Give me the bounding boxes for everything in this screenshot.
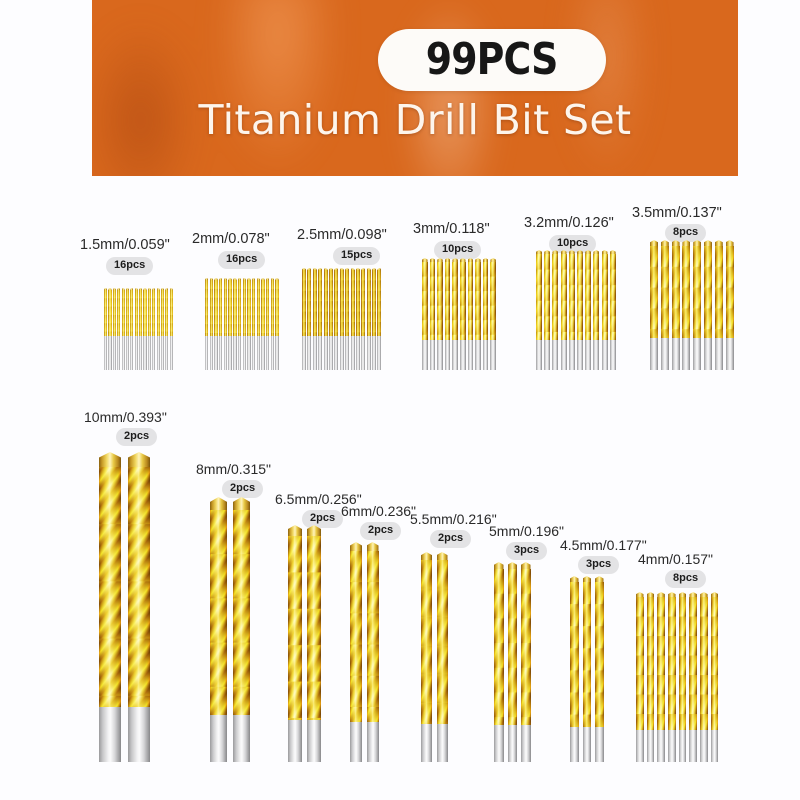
- drill-bit: [561, 250, 567, 370]
- group-size-label: 10mm/0.393": [84, 410, 167, 424]
- drill-bit-reflection: [536, 370, 616, 384]
- drill-bit: [475, 258, 481, 370]
- drill-bit: [356, 268, 360, 370]
- drill-bit-shank: [170, 336, 173, 370]
- drill-bit-shank: [205, 336, 208, 370]
- drill-bit-flute: [367, 551, 379, 722]
- drill-bit-flute: [452, 262, 458, 340]
- drill-bit-reflection: [104, 370, 173, 380]
- drill-bit-shank: [726, 338, 734, 370]
- drill-bit-flute: [536, 254, 542, 340]
- drill-bit-shank: [104, 336, 107, 370]
- group-quantity-badge: 3pcs: [578, 556, 619, 574]
- drill-bit: [593, 250, 599, 370]
- drill-bit-flute: [302, 270, 306, 336]
- drill-bit-flute: [552, 254, 558, 340]
- drill-bit: [271, 278, 274, 370]
- drill-bit-flute: [219, 280, 222, 336]
- drill-bit: [682, 240, 690, 370]
- drill-bit-shank: [679, 730, 687, 762]
- drill-bit: [228, 278, 231, 370]
- group-size-label: 3.5mm/0.137": [632, 206, 722, 221]
- drill-bit: [650, 240, 658, 370]
- drill-bit: [437, 552, 448, 762]
- group-quantity-badge: 15pcs: [333, 247, 380, 265]
- drill-bit: [302, 268, 306, 370]
- drill-bit: [128, 452, 150, 762]
- drill-bit-flute: [214, 280, 217, 336]
- drill-bit-shank: [704, 338, 712, 370]
- drill-bit-reflection: [99, 762, 150, 788]
- drill-bit-flute: [636, 597, 644, 730]
- drill-bit-flute: [421, 560, 432, 724]
- drill-bit-shank: [570, 727, 579, 762]
- drill-bit-shank: [610, 340, 616, 370]
- drill-bit-flute: [650, 246, 658, 338]
- drill-bit-flute: [329, 270, 333, 336]
- drill-bit-shank: [508, 725, 518, 762]
- drill-bit-shank: [421, 724, 432, 762]
- drill-bit: [577, 250, 583, 370]
- drill-bit: [700, 592, 708, 762]
- drill-bit-shank: [139, 336, 142, 370]
- drill-bit-flute: [135, 290, 138, 336]
- drill-bit-shank: [214, 336, 217, 370]
- group-size-label: 5mm/0.196": [489, 524, 564, 538]
- drill-bit-flute: [544, 254, 550, 340]
- drill-bit-flute: [483, 262, 489, 340]
- drill-bit-shank: [700, 730, 708, 762]
- drill-bit-shank: [552, 340, 558, 370]
- drill-bit: [602, 250, 608, 370]
- drill-bit-shank: [430, 340, 436, 370]
- drill-bit: [372, 268, 376, 370]
- piece-count-badge: 99PCS: [378, 29, 606, 91]
- drill-bit-flute: [243, 280, 246, 336]
- product-image-canvas: 99PCS Titanium Drill Bit Set 1.5mm/0.059…: [0, 0, 800, 800]
- drill-bit-flute: [139, 290, 142, 336]
- drill-bit-flute: [460, 262, 466, 340]
- group-size-label: 1.5mm/0.059": [80, 238, 170, 253]
- drill-bit: [165, 288, 168, 370]
- drill-bit-flute: [275, 280, 278, 336]
- drill-bit-shank: [668, 730, 676, 762]
- drill-bit-shank: [143, 336, 146, 370]
- drill-bit: [238, 278, 241, 370]
- drill-bit-shank: [595, 727, 604, 762]
- drill-bit: [210, 278, 213, 370]
- drill-bit: [261, 278, 264, 370]
- drill-bit: [329, 268, 333, 370]
- drill-bit-flute: [585, 254, 591, 340]
- drill-bit-shank: [135, 336, 138, 370]
- drill-bit-shank: [361, 336, 365, 370]
- group-quantity-badge: 2pcs: [222, 480, 263, 498]
- drill-bit: [569, 250, 575, 370]
- group-quantity-badge: 2pcs: [430, 530, 471, 548]
- drill-bit-shank: [233, 336, 236, 370]
- drill-bit-shank: [372, 336, 376, 370]
- drill-bit-shank: [452, 340, 458, 370]
- drill-bit: [610, 250, 616, 370]
- drill-bit: [148, 288, 151, 370]
- drill-bit-shank: [711, 730, 719, 762]
- drill-bit-flute: [313, 270, 317, 336]
- drill-bit-flute: [422, 262, 428, 340]
- drill-bit-flute: [247, 280, 250, 336]
- drill-bit: [113, 288, 116, 370]
- drill-bit: [483, 258, 489, 370]
- piece-count-label: 99PCS: [426, 38, 558, 82]
- drill-bit: [219, 278, 222, 370]
- drill-bit: [570, 576, 579, 762]
- drill-bit-flute: [224, 280, 227, 336]
- drill-bit-shank: [266, 336, 269, 370]
- drill-bit-shank: [126, 336, 129, 370]
- drill-bit-shank: [577, 340, 583, 370]
- drill-bit-shank: [661, 338, 669, 370]
- group-quantity-badge: 2pcs: [360, 522, 401, 540]
- drill-bit: [350, 542, 362, 762]
- drill-bit-shank: [130, 336, 133, 370]
- drill-bit-flute: [261, 280, 264, 336]
- drill-bit-shank: [585, 340, 591, 370]
- drill-bit-flute: [99, 467, 121, 707]
- drill-bit: [351, 268, 355, 370]
- drill-bit-shank: [122, 336, 125, 370]
- drill-bit-flute: [233, 510, 250, 715]
- drill-bit-reflection: [650, 370, 734, 386]
- drill-bit-shank: [689, 730, 697, 762]
- drill-bit-flute: [430, 262, 436, 340]
- drill-bit-shank: [307, 720, 321, 762]
- drill-bit-shank: [233, 715, 250, 762]
- drill-bit-flute: [165, 290, 168, 336]
- drill-bit-flute: [372, 270, 376, 336]
- group-size-label: 8mm/0.315": [196, 462, 271, 476]
- drill-bit-flute: [361, 270, 365, 336]
- drill-bit-flute: [257, 280, 260, 336]
- drill-bit-flute: [152, 290, 155, 336]
- drill-bit-row: [302, 268, 381, 370]
- drill-bit-shank: [271, 336, 274, 370]
- drill-bit-shank: [148, 336, 151, 370]
- drill-bit: [324, 268, 328, 370]
- drill-bit-flute: [490, 262, 496, 340]
- drill-bit-flute: [350, 551, 362, 722]
- drill-bit-flute: [113, 290, 116, 336]
- drill-bit-flute: [468, 262, 474, 340]
- drill-bit: [583, 576, 592, 762]
- drill-bit: [157, 288, 160, 370]
- drill-bit-flute: [679, 597, 687, 730]
- drill-bit-flute: [130, 290, 133, 336]
- hero-banner: 99PCS Titanium Drill Bit Set: [92, 0, 738, 176]
- drill-bit-flute: [569, 254, 575, 340]
- drill-bit-shank: [602, 340, 608, 370]
- drill-bit-shank: [544, 340, 550, 370]
- drill-bit: [422, 258, 428, 370]
- drill-bit-flute: [437, 560, 448, 724]
- drill-bit-row: [421, 552, 448, 762]
- drill-bit-tip: [128, 452, 150, 468]
- drill-bit-flute: [508, 569, 518, 725]
- drill-bit-flute: [205, 280, 208, 336]
- drill-bit-shank: [210, 336, 213, 370]
- group-size-label: 2.5mm/0.098": [297, 228, 387, 243]
- drill-bit-shank: [460, 340, 466, 370]
- drill-bit: [552, 250, 558, 370]
- drill-bit: [275, 278, 278, 370]
- group-size-label: 3mm/0.118": [413, 222, 490, 237]
- drill-bit: [334, 268, 338, 370]
- drill-bit-reflection: [350, 762, 379, 788]
- drill-bit-shank: [682, 338, 690, 370]
- drill-bit-shank: [313, 336, 317, 370]
- drill-bit: [711, 592, 719, 762]
- drill-bit-shank: [152, 336, 155, 370]
- drill-bit-shank: [334, 336, 338, 370]
- drill-bit-flute: [711, 597, 719, 730]
- drill-bit-flute: [647, 597, 655, 730]
- drill-bit-shank: [468, 340, 474, 370]
- drill-bit-flute: [210, 510, 227, 715]
- drill-bit: [104, 288, 107, 370]
- drill-bit-shank: [483, 340, 489, 370]
- drill-bit-shank: [350, 722, 362, 762]
- drill-bit-row: [288, 525, 321, 762]
- drill-bit-row: [650, 240, 734, 370]
- drill-bit: [152, 288, 155, 370]
- group-quantity-badge: 16pcs: [106, 257, 153, 275]
- drill-bit: [252, 278, 255, 370]
- drill-bit: [508, 562, 518, 762]
- group-size-label: 6mm/0.236": [341, 504, 416, 518]
- drill-bit-flute: [104, 290, 107, 336]
- drill-bit: [247, 278, 250, 370]
- drill-bit-shank: [536, 340, 542, 370]
- drill-bit: [243, 278, 246, 370]
- drill-bit-flute: [307, 270, 311, 336]
- drill-bit: [257, 278, 260, 370]
- drill-bit-flute: [238, 280, 241, 336]
- drill-bit-shank: [247, 336, 250, 370]
- drill-bit-flute: [682, 246, 690, 338]
- drill-bit-flute: [693, 246, 701, 338]
- drill-bit: [521, 562, 531, 762]
- drill-bit-reflection: [494, 762, 531, 786]
- drill-bit: [452, 258, 458, 370]
- drill-bit-flute: [437, 262, 443, 340]
- drill-bit: [689, 592, 697, 762]
- drill-bit: [210, 497, 227, 762]
- drill-bit-shank: [252, 336, 255, 370]
- drill-bit-flute: [143, 290, 146, 336]
- drill-bit: [233, 497, 250, 762]
- drill-bit-shank: [228, 336, 231, 370]
- drill-bit-flute: [288, 536, 302, 720]
- drill-bit-flute: [700, 597, 708, 730]
- drill-bit-flute: [126, 290, 129, 336]
- drill-bit-shank: [128, 707, 150, 762]
- drill-bit-flute: [108, 290, 111, 336]
- drill-bit-shank: [715, 338, 723, 370]
- drill-bit-reflection: [302, 370, 382, 382]
- drill-bit-flute: [307, 536, 321, 720]
- group-quantity-badge: 8pcs: [665, 570, 706, 588]
- drill-bit-shank: [257, 336, 260, 370]
- drill-bit-row: [104, 288, 173, 370]
- drill-bit-reflection: [210, 762, 250, 788]
- drill-bit-reflection: [421, 762, 448, 787]
- drill-bit-flute: [351, 270, 355, 336]
- drill-bit: [704, 240, 712, 370]
- drill-bit-reflection: [570, 762, 604, 784]
- drill-bit-flute: [561, 254, 567, 340]
- drill-bit: [668, 592, 676, 762]
- drill-bit: [367, 542, 379, 762]
- group-size-label: 4.5mm/0.177": [560, 538, 647, 552]
- drill-bit: [490, 258, 496, 370]
- drill-bit: [421, 552, 432, 762]
- drill-bit-shank: [650, 338, 658, 370]
- drill-bit: [715, 240, 723, 370]
- drill-bit-flute: [340, 270, 344, 336]
- drill-bit-row: [570, 576, 604, 762]
- group-size-label: 5.5mm/0.216": [410, 512, 497, 526]
- drill-bit: [430, 258, 436, 370]
- drill-bit-shank: [108, 336, 111, 370]
- drill-bit: [672, 240, 680, 370]
- drill-bit-flute: [726, 246, 734, 338]
- drill-bit: [224, 278, 227, 370]
- drill-bit-shank: [275, 336, 278, 370]
- drill-bit-shank: [422, 340, 428, 370]
- drill-bit-flute: [117, 290, 120, 336]
- drill-bit-shank: [593, 340, 599, 370]
- drill-bit: [345, 268, 349, 370]
- drill-bit: [205, 278, 208, 370]
- drill-bit-shank: [657, 730, 665, 762]
- drill-bit-flute: [334, 270, 338, 336]
- drill-bit-reflection: [288, 762, 321, 788]
- drill-bit-row: [210, 497, 250, 762]
- drill-bit: [214, 278, 217, 370]
- drill-bit-flute: [157, 290, 160, 336]
- drill-bit: [494, 562, 504, 762]
- drill-bit: [233, 278, 236, 370]
- drill-bit-shank: [318, 336, 322, 370]
- drill-bit-reflection: [422, 370, 496, 383]
- drill-bit-shank: [437, 724, 448, 762]
- drill-bit-shank: [377, 336, 381, 370]
- drill-bit: [536, 250, 542, 370]
- drill-bit-shank: [437, 340, 443, 370]
- drill-bit-shank: [636, 730, 644, 762]
- drill-bit: [99, 452, 121, 762]
- drill-bit-shank: [475, 340, 481, 370]
- drill-bit-shank: [219, 336, 222, 370]
- banner-title: Titanium Drill Bit Set: [92, 96, 738, 144]
- drill-bit-flute: [602, 254, 608, 340]
- drill-bit-shank: [307, 336, 311, 370]
- group-quantity-badge: 3pcs: [506, 542, 547, 560]
- drill-bit: [130, 288, 133, 370]
- group-size-label: 4mm/0.157": [638, 552, 713, 566]
- drill-bit: [108, 288, 111, 370]
- drill-bit-flute: [271, 280, 274, 336]
- drill-bit: [313, 268, 317, 370]
- drill-bit-flute: [345, 270, 349, 336]
- drill-bit-flute: [228, 280, 231, 336]
- drill-bit: [468, 258, 474, 370]
- drill-bit-shank: [161, 336, 164, 370]
- drill-bit: [170, 288, 173, 370]
- drill-bit: [161, 288, 164, 370]
- drill-bit: [288, 525, 302, 762]
- drill-bit-shank: [157, 336, 160, 370]
- drill-bit-shank: [356, 336, 360, 370]
- drill-bit-shank: [238, 336, 241, 370]
- drill-bit: [693, 240, 701, 370]
- drill-bit-flute: [475, 262, 481, 340]
- drill-bit-flute: [233, 280, 236, 336]
- drill-bit: [657, 592, 665, 762]
- drill-bit-tip: [210, 497, 227, 511]
- drill-bit: [307, 268, 311, 370]
- drill-bit-shank: [261, 336, 264, 370]
- drill-bit-shank: [243, 336, 246, 370]
- drill-bit-shank: [672, 338, 680, 370]
- drill-bit-shank: [445, 340, 451, 370]
- drill-bit-row: [636, 592, 718, 762]
- drill-bit: [139, 288, 142, 370]
- drill-bit: [445, 258, 451, 370]
- drill-bit-shank: [324, 336, 328, 370]
- drill-bit: [361, 268, 365, 370]
- drill-bit: [377, 268, 381, 370]
- drill-bit: [318, 268, 322, 370]
- drill-bit-flute: [161, 290, 164, 336]
- drill-bit-shank: [224, 336, 227, 370]
- drill-bit-shank: [367, 722, 379, 762]
- drill-bit-flute: [318, 270, 322, 336]
- drill-bit-shank: [569, 340, 575, 370]
- drill-bit-shank: [693, 338, 701, 370]
- drill-bit-shank: [210, 715, 227, 762]
- drill-bit-row: [99, 452, 150, 762]
- drill-bit: [544, 250, 550, 370]
- drill-bit-shank: [351, 336, 355, 370]
- drill-bit-flute: [122, 290, 125, 336]
- drill-bit-flute: [610, 254, 616, 340]
- drill-bit-shank: [521, 725, 531, 762]
- drill-bit: [636, 592, 644, 762]
- drill-bit: [266, 278, 269, 370]
- group-size-label: 3.2mm/0.126": [524, 216, 614, 231]
- drill-bit-shank: [288, 720, 302, 762]
- drill-bit-shank: [494, 725, 504, 762]
- drill-bit-flute: [252, 280, 255, 336]
- drill-bit: [143, 288, 146, 370]
- drill-bit-flute: [266, 280, 269, 336]
- drill-bit-shank: [117, 336, 120, 370]
- drill-bit-shank: [99, 707, 121, 762]
- drill-bit: [726, 240, 734, 370]
- drill-bit: [122, 288, 125, 370]
- drill-bit: [307, 525, 321, 762]
- drill-bit-flute: [148, 290, 151, 336]
